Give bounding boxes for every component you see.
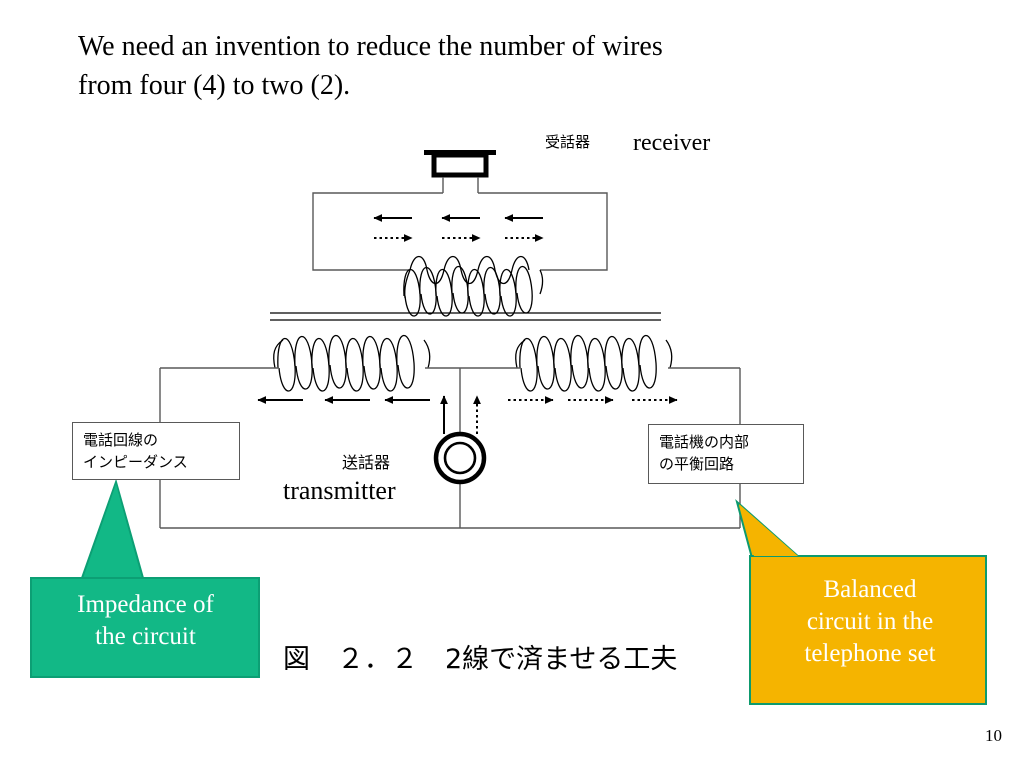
receiver-label-en: receiver <box>633 130 710 157</box>
receiver-icon <box>424 150 496 175</box>
transmitter-label-jp: 送話器 <box>342 449 390 473</box>
transmitter-label-en: transmitter <box>283 476 396 506</box>
secondary-coil-right <box>516 335 672 391</box>
balanced-circuit-box: 電話機の内部 の平衡回路 <box>648 424 804 484</box>
transmitter-icon <box>436 434 484 482</box>
balanced-circuit-callout[interactable] <box>737 502 986 704</box>
primary-coil-left <box>274 335 430 391</box>
receiver-label-jp: 受話器 <box>545 131 590 152</box>
receiver-loop <box>313 177 607 270</box>
transformer-core <box>270 313 661 320</box>
receiver-coil <box>404 257 543 317</box>
line-impedance-box: 電話回線の インピーダンス <box>72 422 240 480</box>
page-number: 10 <box>985 726 1002 746</box>
impedance-callout[interactable] <box>31 482 259 677</box>
figure-caption: 図 ２．２ 2線で済ませる工夫 <box>283 637 677 676</box>
slide-canvas: We need an invention to reduce the numbe… <box>0 0 1024 768</box>
